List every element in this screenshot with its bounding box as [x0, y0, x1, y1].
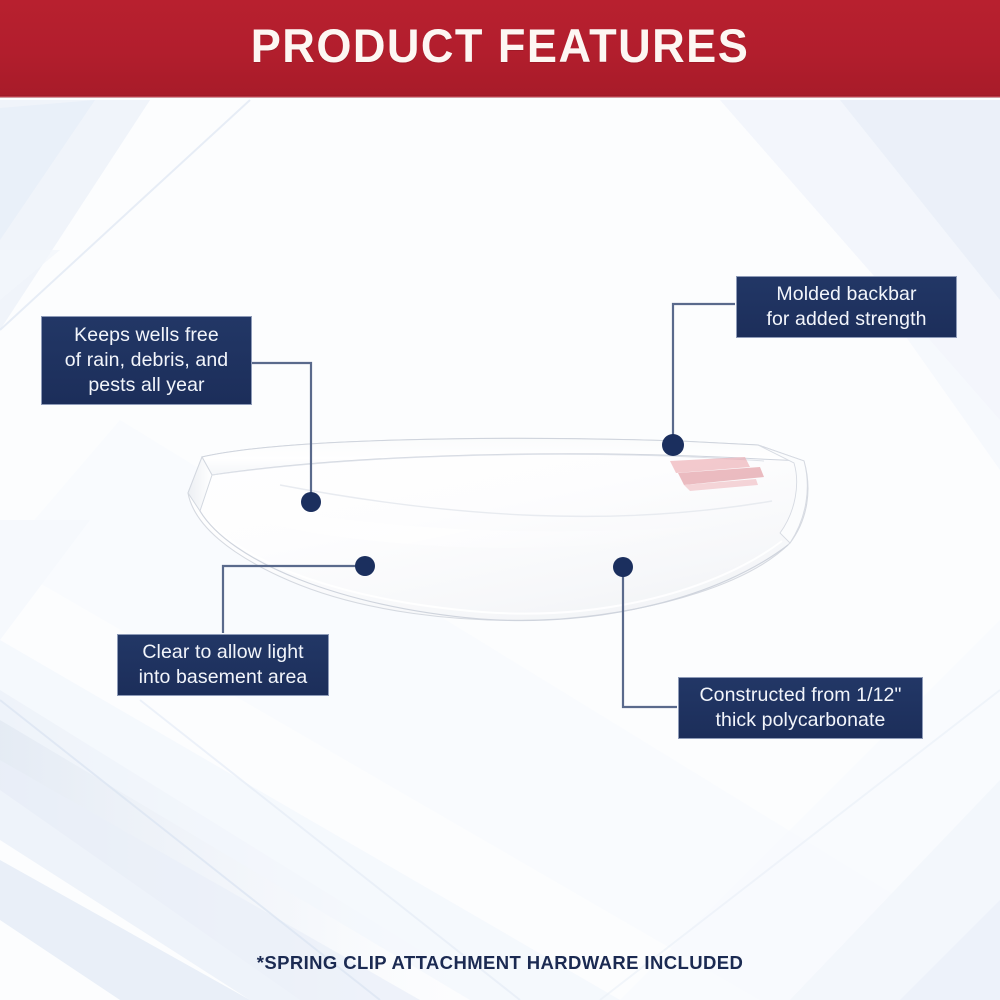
product-image-window-well-cover: [160, 415, 840, 640]
callout-box-molded[interactable]: Molded backbar for added strength: [736, 276, 957, 338]
callout-line: Clear to allow light: [126, 640, 320, 665]
callout-line: Molded backbar: [745, 282, 948, 307]
callout-line: Keeps wells free: [50, 323, 243, 348]
footer-note: *SPRING CLIP ATTACHMENT HARDWARE INCLUDE…: [0, 952, 1000, 974]
callout-line: Constructed from 1/12": [687, 683, 914, 708]
callout-box-clear-light[interactable]: Clear to allow light into basement area: [117, 634, 329, 696]
callout-text-keeps-wells: Keeps wells free of rain, debris, and pe…: [50, 323, 243, 398]
page-title: PRODUCT FEATURES: [20, 18, 980, 73]
callout-box-keeps-wells[interactable]: Keeps wells free of rain, debris, and pe…: [41, 316, 252, 405]
callout-line: pests all year: [50, 373, 243, 398]
product-illustration: [160, 415, 840, 640]
callout-text-clear-light: Clear to allow light into basement area: [126, 640, 320, 690]
header-divider: [0, 95, 1000, 98]
callout-text-molded: Molded backbar for added strength: [745, 282, 948, 332]
callout-box-constructed[interactable]: Constructed from 1/12" thick polycarbona…: [678, 677, 923, 739]
callout-line: into basement area: [126, 665, 320, 690]
callout-line: for added strength: [745, 307, 948, 332]
callout-line: of rain, debris, and: [50, 348, 243, 373]
callout-line: thick polycarbonate: [687, 708, 914, 733]
callout-text-constructed: Constructed from 1/12" thick polycarbona…: [687, 683, 914, 733]
infographic-canvas: PRODUCT FEATURES: [0, 0, 1000, 1000]
